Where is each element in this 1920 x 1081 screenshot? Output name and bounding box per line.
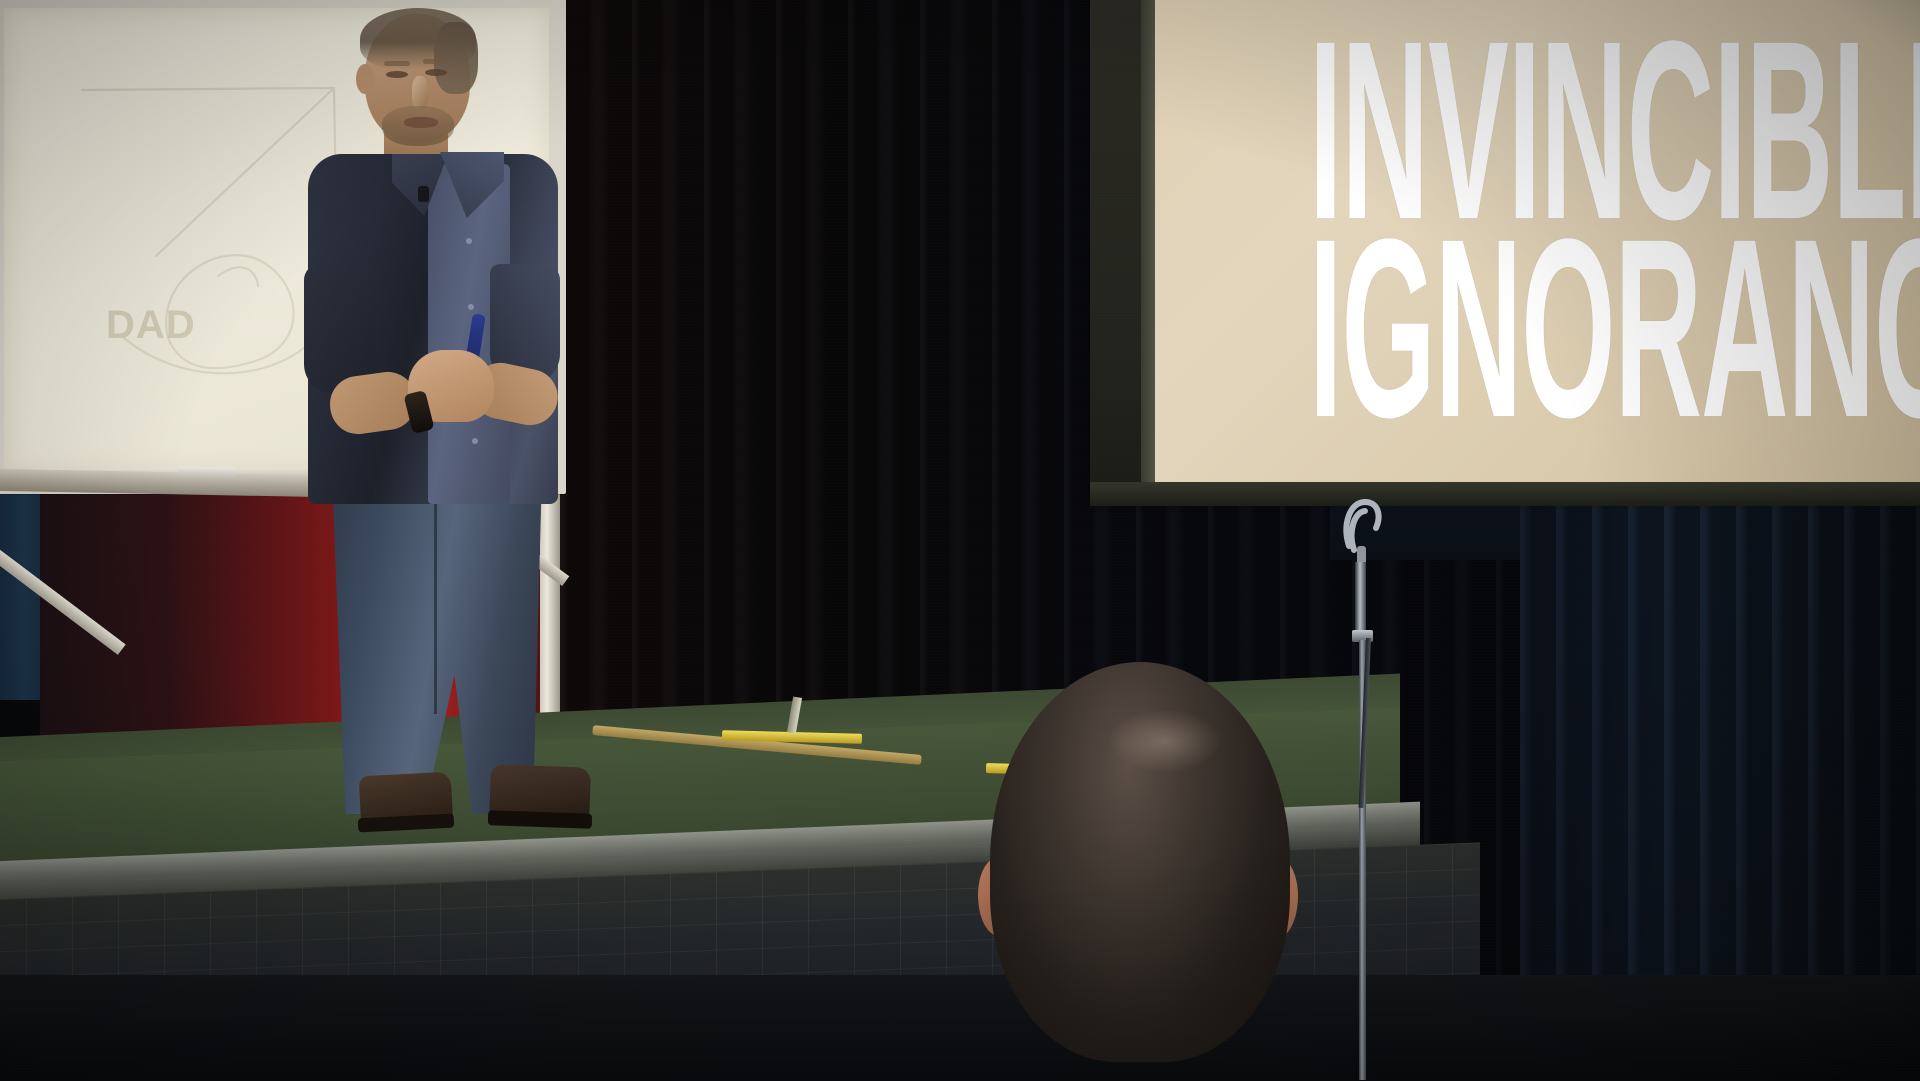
audience-member	[990, 662, 1300, 1081]
presenter-mouth	[404, 117, 438, 128]
presenter-jeans-seam	[434, 484, 437, 714]
microphone-clip-icon	[1340, 494, 1384, 572]
projection-screen-surface	[1155, 0, 1920, 482]
shirt-button	[466, 238, 472, 244]
microphone-stand-upper	[1355, 562, 1366, 634]
presenter-eye-right	[425, 69, 447, 76]
presenter-eyebrow-left	[384, 61, 410, 66]
foreground-floor	[0, 975, 1920, 1081]
presenter-ear	[356, 64, 374, 94]
svg-text:DAD: DAD	[106, 303, 196, 347]
presenter-nose	[412, 76, 428, 110]
presenter	[300, 14, 600, 854]
presenter-eyebrow-right	[423, 59, 449, 64]
projection-screen-bottom-bar	[1090, 482, 1920, 506]
presenter-hair-side	[434, 22, 478, 94]
whiteboard-eraser	[178, 466, 236, 479]
presenter-eye-left	[386, 71, 408, 78]
lapel-microphone-icon	[418, 186, 429, 202]
audience-hair-highlight	[1110, 710, 1220, 772]
shirt-button	[468, 304, 474, 310]
presenter-boot-sole-right	[488, 810, 592, 829]
video-frame: DAD	[0, 0, 1920, 1081]
shirt-button	[472, 438, 478, 444]
